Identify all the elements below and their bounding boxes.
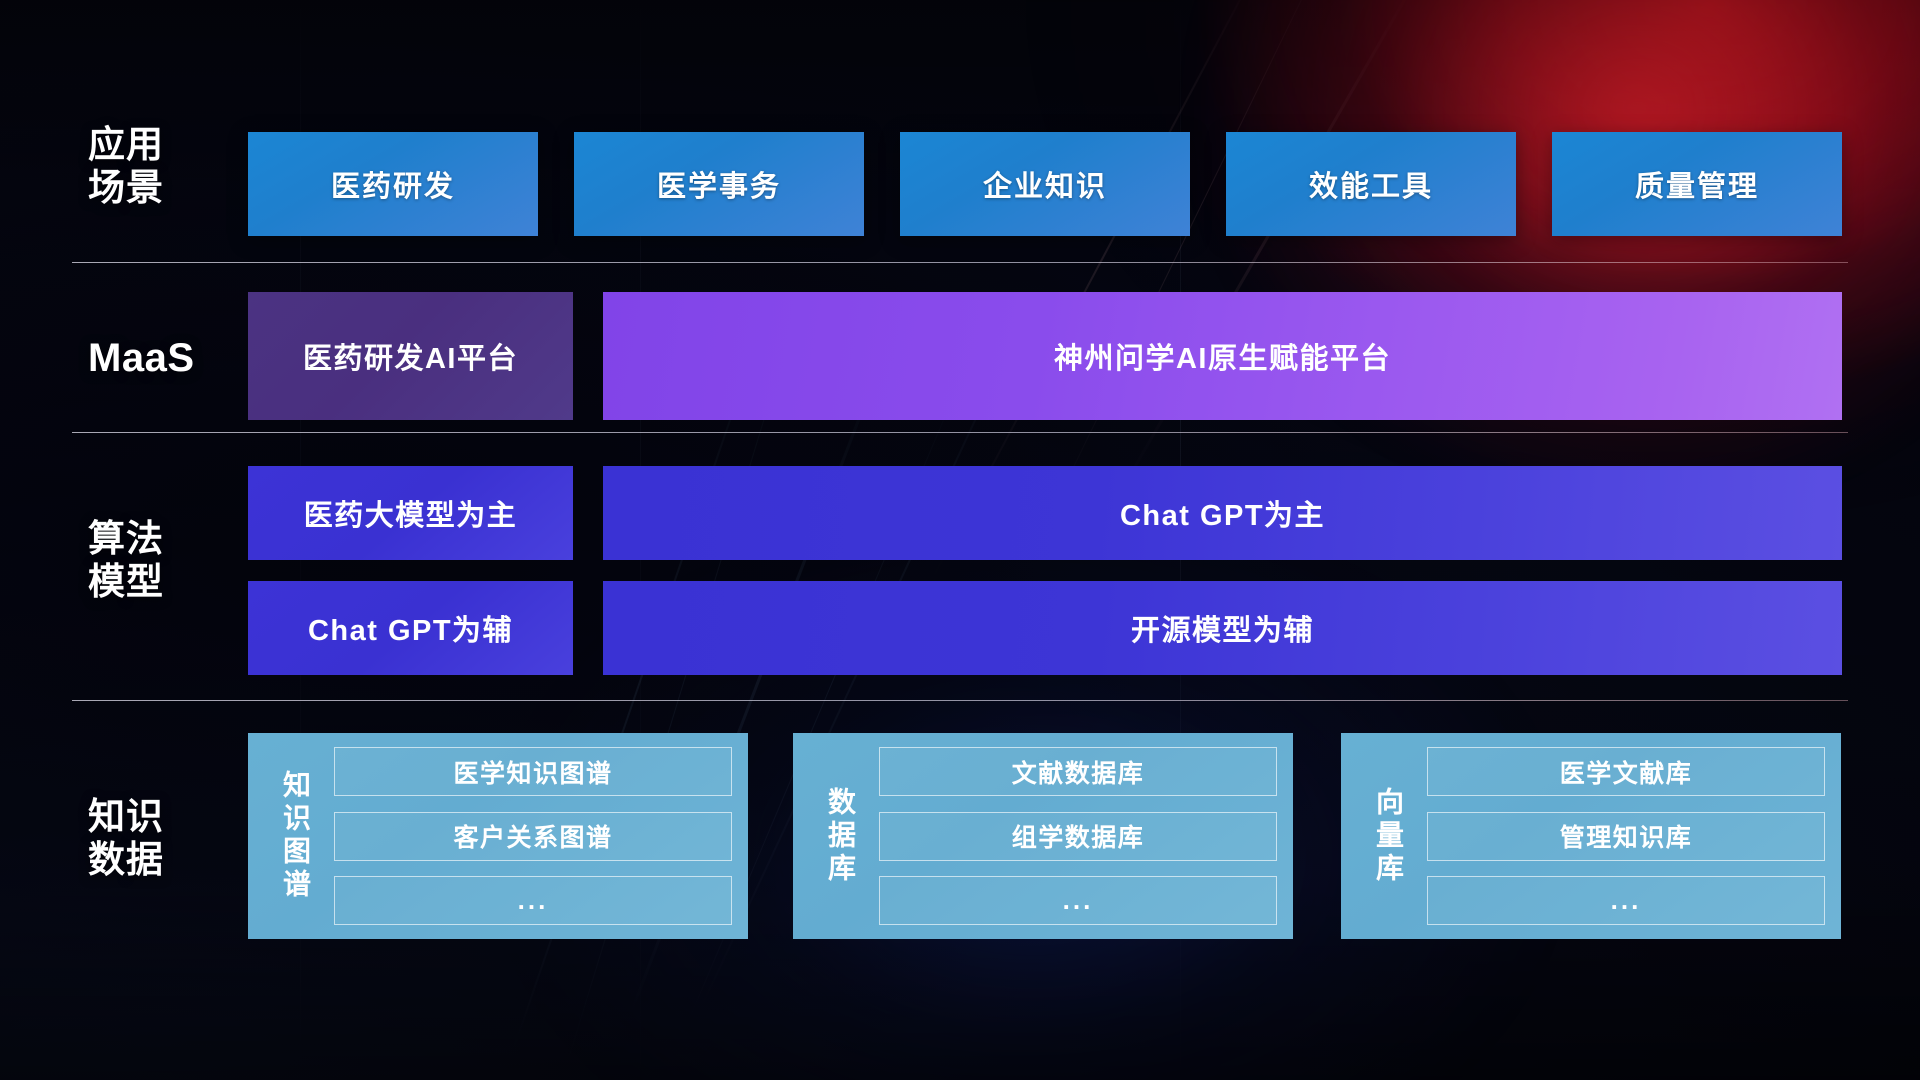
app-box-1[interactable]: 医学事务 <box>574 132 864 236</box>
maas-box-right[interactable]: 神州问学AI原生赋能平台 <box>603 292 1842 420</box>
app-box-label: 质量管理 <box>1635 163 1759 205</box>
divider-2 <box>72 432 1848 433</box>
app-box-label: 效能工具 <box>1309 163 1433 205</box>
knowledge-item[interactable]: 文献数据库 <box>879 747 1277 796</box>
row-label-line: 算法 <box>88 518 220 561</box>
app-box-0[interactable]: 医药研发 <box>248 132 538 236</box>
knowledge-item[interactable]: 管理知识库 <box>1427 812 1825 861</box>
algo-box-0[interactable]: 医药大模型为主 <box>248 466 573 560</box>
row-label-line: 知识 <box>88 796 220 839</box>
knowledge-panel-items: 医学知识图谱 客户关系图谱 ... <box>324 747 732 925</box>
algo-box-label: Chat GPT为主 <box>1120 492 1325 534</box>
app-box-label: 医学事务 <box>657 163 781 205</box>
algo-box-label: Chat GPT为辅 <box>308 607 513 649</box>
knowledge-panel-items: 医学文献库 管理知识库 ... <box>1417 747 1825 925</box>
row-label-line: MaaS <box>88 335 220 381</box>
app-box-4[interactable]: 质量管理 <box>1552 132 1842 236</box>
knowledge-panel-2[interactable]: 向量库 医学文献库 管理知识库 ... <box>1341 733 1841 939</box>
knowledge-item[interactable]: 组学数据库 <box>879 812 1277 861</box>
maas-box-left[interactable]: 医药研发AI平台 <box>248 292 573 420</box>
algo-box-1[interactable]: Chat GPT为主 <box>603 466 1842 560</box>
row-label-maas: MaaS <box>88 335 220 381</box>
knowledge-panel-items: 文献数据库 组学数据库 ... <box>869 747 1277 925</box>
row-label-application-scenarios: 应用 场景 <box>88 124 220 210</box>
app-box-3[interactable]: 效能工具 <box>1226 132 1516 236</box>
knowledge-panel-vertical-label: 知识图谱 <box>266 747 324 925</box>
knowledge-item-ellipsis[interactable]: ... <box>334 876 732 925</box>
algo-box-label: 医药大模型为主 <box>304 492 518 534</box>
row-label-line: 模型 <box>88 561 220 604</box>
knowledge-item-ellipsis[interactable]: ... <box>1427 876 1825 925</box>
knowledge-panel-vertical-label: 数据库 <box>811 747 869 925</box>
architecture-diagram: 应用 场景 医药研发 医学事务 企业知识 效能工具 质量管理 MaaS 医药研发… <box>0 0 1920 1080</box>
app-box-label: 企业知识 <box>983 163 1107 205</box>
row-label-line: 数据 <box>88 839 220 882</box>
row-label-line: 场景 <box>88 167 220 210</box>
divider-1 <box>72 262 1848 263</box>
app-box-label: 医药研发 <box>331 163 455 205</box>
knowledge-panel-1[interactable]: 数据库 文献数据库 组学数据库 ... <box>793 733 1293 939</box>
knowledge-panel-vertical-label: 向量库 <box>1359 747 1417 925</box>
algo-box-2[interactable]: Chat GPT为辅 <box>248 581 573 675</box>
knowledge-item-ellipsis[interactable]: ... <box>879 876 1277 925</box>
row-label-knowledge-data: 知识 数据 <box>88 796 220 882</box>
knowledge-item[interactable]: 医学知识图谱 <box>334 747 732 796</box>
algo-box-label: 开源模型为辅 <box>1131 607 1314 649</box>
knowledge-item[interactable]: 客户关系图谱 <box>334 812 732 861</box>
divider-3 <box>72 700 1848 701</box>
knowledge-item[interactable]: 医学文献库 <box>1427 747 1825 796</box>
row-label-line: 应用 <box>88 124 220 167</box>
app-box-2[interactable]: 企业知识 <box>900 132 1190 236</box>
knowledge-panel-0[interactable]: 知识图谱 医学知识图谱 客户关系图谱 ... <box>248 733 748 939</box>
algo-box-3[interactable]: 开源模型为辅 <box>603 581 1842 675</box>
row-label-algorithm-models: 算法 模型 <box>88 518 220 604</box>
maas-box-label: 医药研发AI平台 <box>303 335 518 377</box>
maas-box-label: 神州问学AI原生赋能平台 <box>1054 335 1391 377</box>
